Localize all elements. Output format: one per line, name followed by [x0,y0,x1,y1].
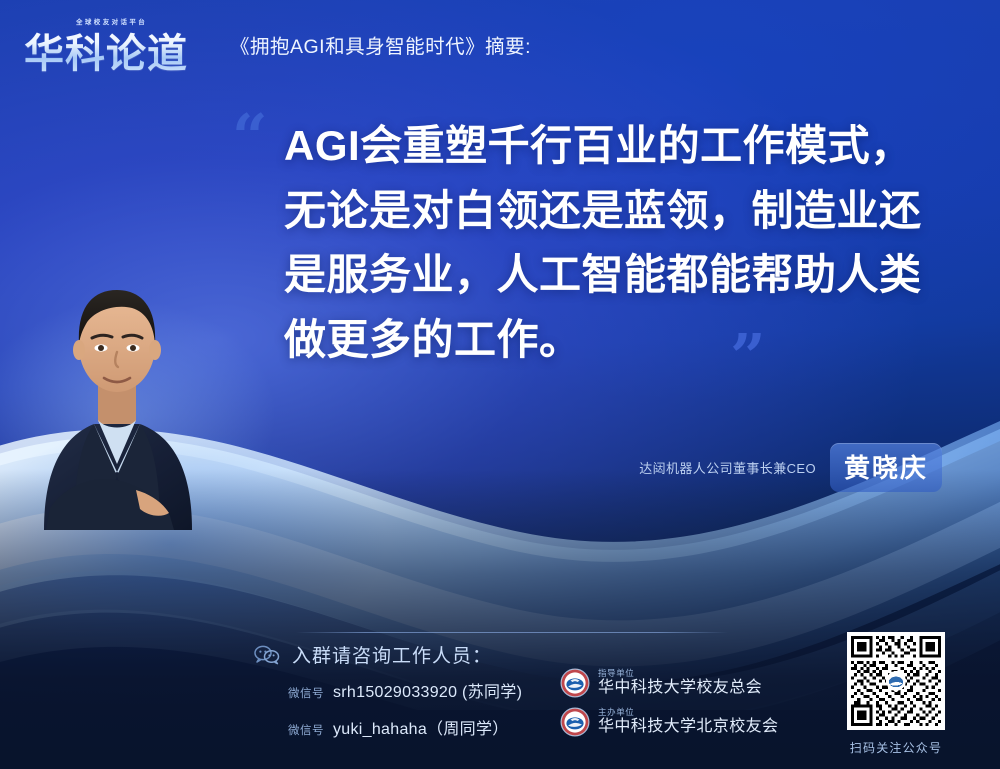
qr-code[interactable] [847,632,945,730]
organization-item: 主办单位 华中科技大学北京校友会 [560,707,778,737]
organization-list: 指导单位 华中科技大学校友总会 主办单位 华中科技大学北京校友会 [560,668,778,746]
poster-canvas: 全球校友对话平台 华科论道 《拥抱AGI和具身智能时代》摘要: “ AGI会重塑… [0,0,1000,769]
organization-text: 指导单位 华中科技大学校友总会 [598,669,762,697]
organization-name: 华中科技大学北京校友会 [598,718,778,736]
contact-label: 微信号 [288,722,324,738]
organization-name: 华中科技大学校友总会 [598,679,762,697]
qr-section: 扫码关注公众号 [841,632,951,756]
hust-emblem-icon [560,707,590,737]
attribution: 达闼机器人公司董事长兼CEO 黄晓庆 [639,443,942,492]
quote-text: AGI会重塑千行百业的工作模式，无论是对白领还是蓝领，制造业还是服务业，人工智能… [284,114,952,373]
header-bar: 全球校友对话平台 华科论道 《拥抱AGI和具身智能时代》摘要: [0,0,1000,88]
organization-item: 指导单位 华中科技大学校友总会 [560,668,778,698]
contact-value: yuki_hahaha（周同学） [333,715,509,739]
contact-label: 微信号 [288,685,324,701]
quote-open-mark: “ [232,106,268,168]
speaker-portrait [28,268,206,530]
hust-emblem-icon [560,668,590,698]
contact-value: srh15029033920 (苏同学) [333,678,522,702]
organization-text: 主办单位 华中科技大学北京校友会 [598,708,778,736]
organization-kind: 主办单位 [598,708,778,717]
footer-divider [296,632,728,633]
organization-kind: 指导单位 [598,669,762,678]
join-row: 入群请咨询工作人员： [254,641,814,668]
headline-text: 《拥抱AGI和具身智能时代》摘要: [230,30,531,59]
quote-close-mark: ” [730,326,766,388]
speaker-title: 达闼机器人公司董事长兼CEO [639,458,816,477]
qr-caption: 扫码关注公众号 [841,739,951,756]
speaker-name-badge: 黄晓庆 [830,443,942,492]
brand-logo: 全球校友对话平台 华科论道 [24,13,212,75]
wechat-icon [254,645,280,665]
logo-wordmark: 华科论道 [24,21,188,79]
join-title: 入群请咨询工作人员： [292,641,492,668]
qr-matrix [851,636,941,726]
